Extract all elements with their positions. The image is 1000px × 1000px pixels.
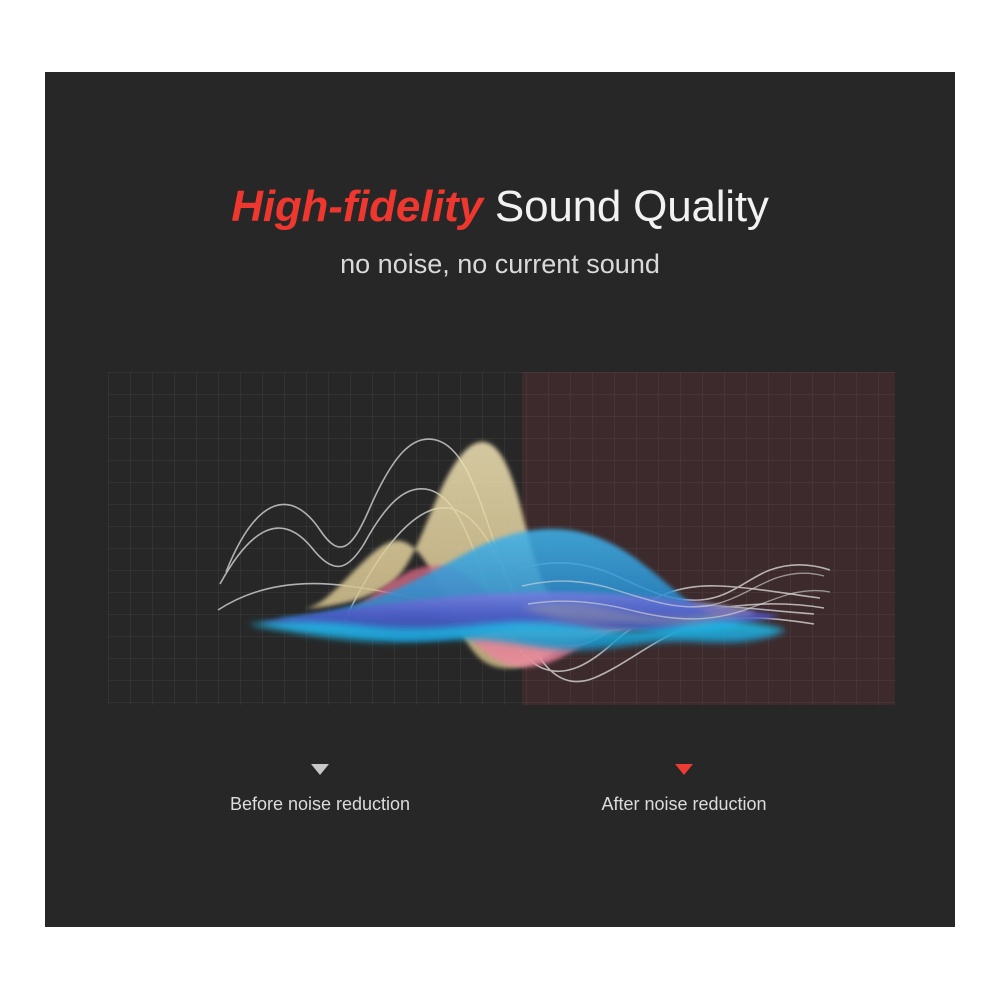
triangle-down-icon-after (675, 764, 693, 775)
title-rest-text: Sound Quality (483, 182, 769, 231)
waveform-visualizer (108, 372, 895, 705)
triangle-down-icon-before (311, 764, 329, 775)
screenshot-root: High-fidelity Sound Quality no noise, no… (0, 0, 1000, 1000)
legend-label-before: Before noise reduction (230, 794, 410, 815)
promo-panel: High-fidelity Sound Quality no noise, no… (45, 72, 955, 927)
waveform-svg (108, 372, 895, 705)
page-title: High-fidelity Sound Quality (45, 182, 955, 231)
page-subtitle: no noise, no current sound (45, 249, 955, 280)
title-accent-text: High-fidelity (231, 182, 483, 231)
legend-label-after: After noise reduction (601, 794, 766, 815)
